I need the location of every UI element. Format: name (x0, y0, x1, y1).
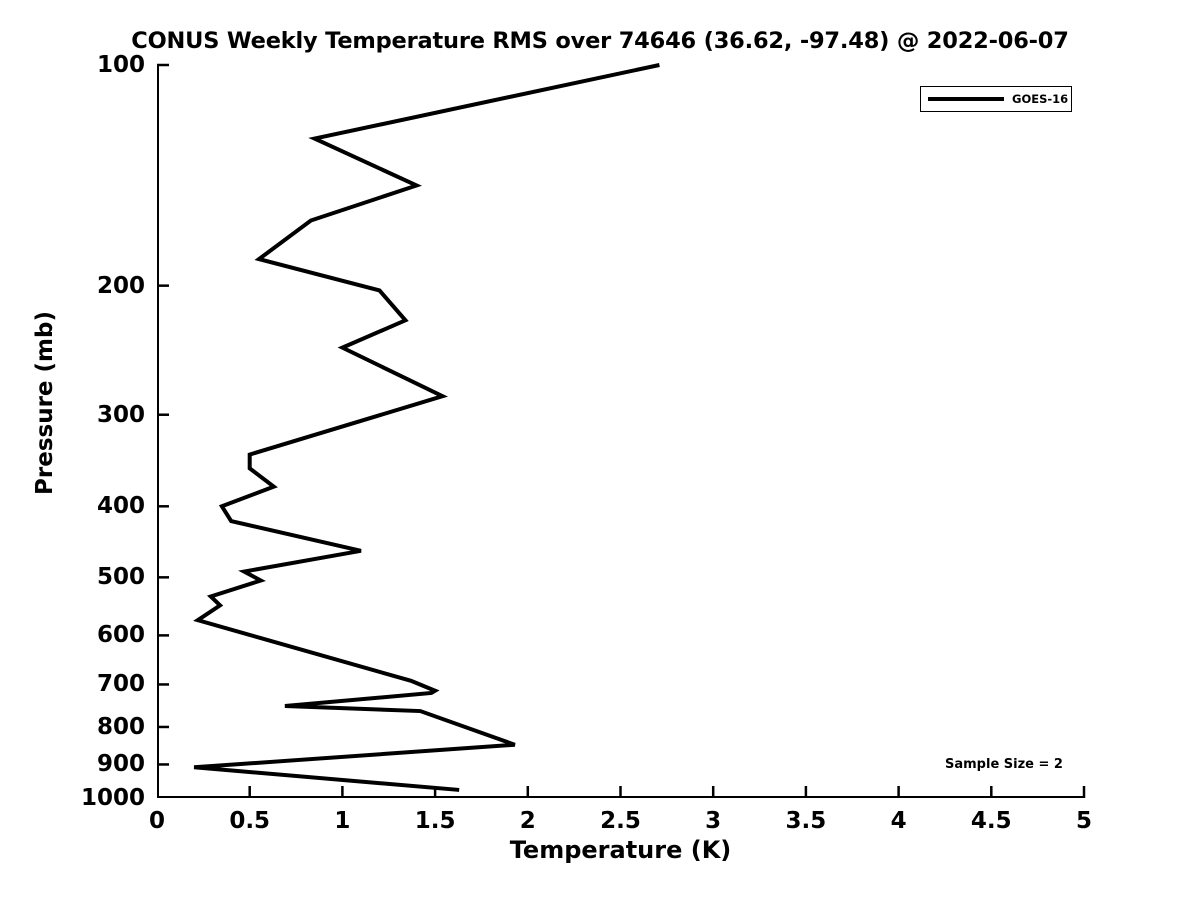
y-tick-label: 100 (0, 52, 145, 78)
x-tick-label: 5 (1076, 808, 1092, 834)
series-line-goes-16 (194, 65, 659, 790)
x-tick-label: 2 (520, 808, 536, 834)
y-axis-label: Pressure (mb) (32, 253, 58, 553)
sample-size-annotation: Sample Size = 2 (945, 757, 1063, 772)
y-tick-label: 900 (0, 751, 145, 777)
y-tick-label: 400 (0, 493, 145, 519)
y-tick-label: 1000 (0, 785, 145, 811)
y-tick-label: 300 (0, 402, 145, 428)
y-tick-label: 700 (0, 671, 145, 697)
x-tick-label: 4 (891, 808, 907, 834)
x-axis-label: Temperature (K) (157, 836, 1084, 864)
x-axis-ticks (250, 786, 1084, 798)
legend: GOES-16 (920, 86, 1072, 112)
x-tick-label: 2.5 (600, 808, 641, 834)
x-tick-label: 1.5 (415, 808, 456, 834)
x-tick-label: 1 (334, 808, 350, 834)
y-tick-label: 500 (0, 564, 145, 590)
x-tick-label: 3 (705, 808, 721, 834)
x-tick-label: 4.5 (971, 808, 1012, 834)
y-tick-label: 200 (0, 273, 145, 299)
legend-line-swatch (928, 97, 1004, 101)
y-axis-ticks (157, 65, 169, 764)
x-tick-label: 3.5 (786, 808, 827, 834)
y-tick-label: 600 (0, 622, 145, 648)
legend-label-goes-16: GOES-16 (1012, 92, 1068, 106)
x-tick-label: 0.5 (229, 808, 270, 834)
x-tick-label: 0 (149, 808, 165, 834)
y-tick-label: 800 (0, 714, 145, 740)
chart-root: CONUS Weekly Temperature RMS over 74646 … (0, 0, 1200, 900)
data-series-layer (194, 65, 659, 790)
